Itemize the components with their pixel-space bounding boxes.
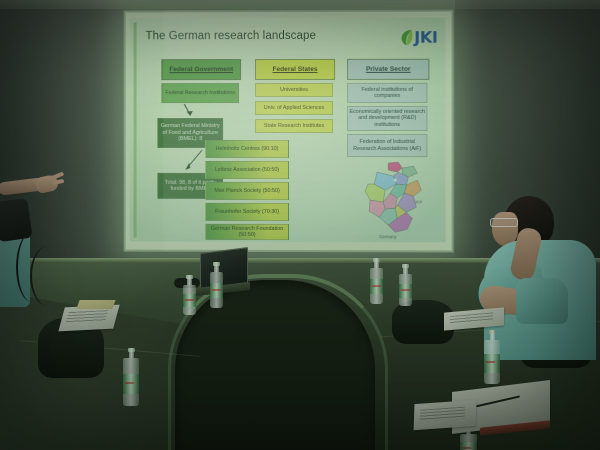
water-bottle[interactable] [183, 275, 196, 315]
pen[interactable] [476, 395, 520, 407]
map-inset-label: GDR [414, 200, 422, 204]
presenter-left [0, 170, 80, 320]
arrow-down-to-bmel [181, 103, 199, 119]
map-caption: Germany [379, 234, 396, 239]
header-federal-states: Federal States [255, 59, 335, 80]
bottle-body [484, 340, 500, 384]
box-universities-applied-sciences: Univ. of Applied Sciences [255, 101, 333, 115]
water-bottle[interactable] [123, 348, 139, 406]
bottle-label [460, 442, 477, 450]
header-federal-government: Federal Government [161, 59, 241, 80]
box-max-planck-society: Max Planck Society (50:50) [205, 182, 289, 200]
bottle-body [370, 268, 383, 304]
leaf-icon [400, 28, 413, 46]
table-center-rim [168, 274, 388, 450]
bottle-body [183, 285, 196, 315]
bottle-label [399, 284, 412, 298]
arrow-down-to-total [181, 149, 205, 175]
box-state-research-institutes: State Research Institutes [255, 119, 333, 133]
germany-map [357, 160, 429, 236]
slide-accent-bar [134, 22, 137, 237]
bottle-label [183, 294, 196, 307]
conference-room: The German research landscape JKI Federa… [0, 0, 600, 450]
bottle-body [460, 434, 477, 450]
box-economically-oriented-rd: Economically oriented research and devel… [347, 106, 427, 131]
bottle-label [210, 283, 223, 298]
water-bottle[interactable] [210, 262, 223, 308]
bottle-body [123, 358, 139, 406]
water-bottle[interactable] [370, 258, 383, 304]
bottle-body [399, 274, 412, 306]
jki-logo: JKI [400, 28, 437, 47]
box-aif: Federation of Industrial Research Associ… [347, 134, 427, 157]
box-universities: Universities [255, 83, 333, 97]
water-bottle[interactable] [399, 264, 412, 306]
bottle-label [123, 374, 139, 394]
attendee-sleeve [516, 278, 568, 324]
bottle-label [370, 279, 383, 294]
notepad[interactable] [76, 300, 115, 309]
slide-title: The German research landscape [146, 30, 317, 42]
bottle-body [210, 272, 223, 308]
box-federal-institutions-companies: Federal institutions of companies [347, 83, 427, 103]
box-helmholtz-centres: Helmholtz Centres (90:10) [205, 140, 289, 158]
box-federal-research-institutions: Federal Research Institutions [161, 83, 239, 103]
glasses-icon [490, 218, 518, 227]
box-fraunhofer-society: Fraunhofer Society (70:30) [205, 203, 289, 221]
water-bottle[interactable] [484, 330, 500, 384]
box-leibniz-association: Leibniz Association (50:50) [205, 161, 289, 179]
header-private-sector: Private Sector [347, 59, 429, 80]
jki-logo-text: JKI [414, 28, 437, 47]
laptop[interactable] [200, 250, 250, 293]
projection-screen: The German research landscape JKI Federa… [124, 10, 454, 253]
cable [30, 246, 66, 306]
paper-sheet[interactable] [414, 400, 477, 430]
box-german-research-foundation: German Research Foundation (50:50) [205, 224, 289, 240]
presentation-slide: The German research landscape JKI Federa… [130, 18, 446, 243]
bottle-label [484, 354, 500, 373]
